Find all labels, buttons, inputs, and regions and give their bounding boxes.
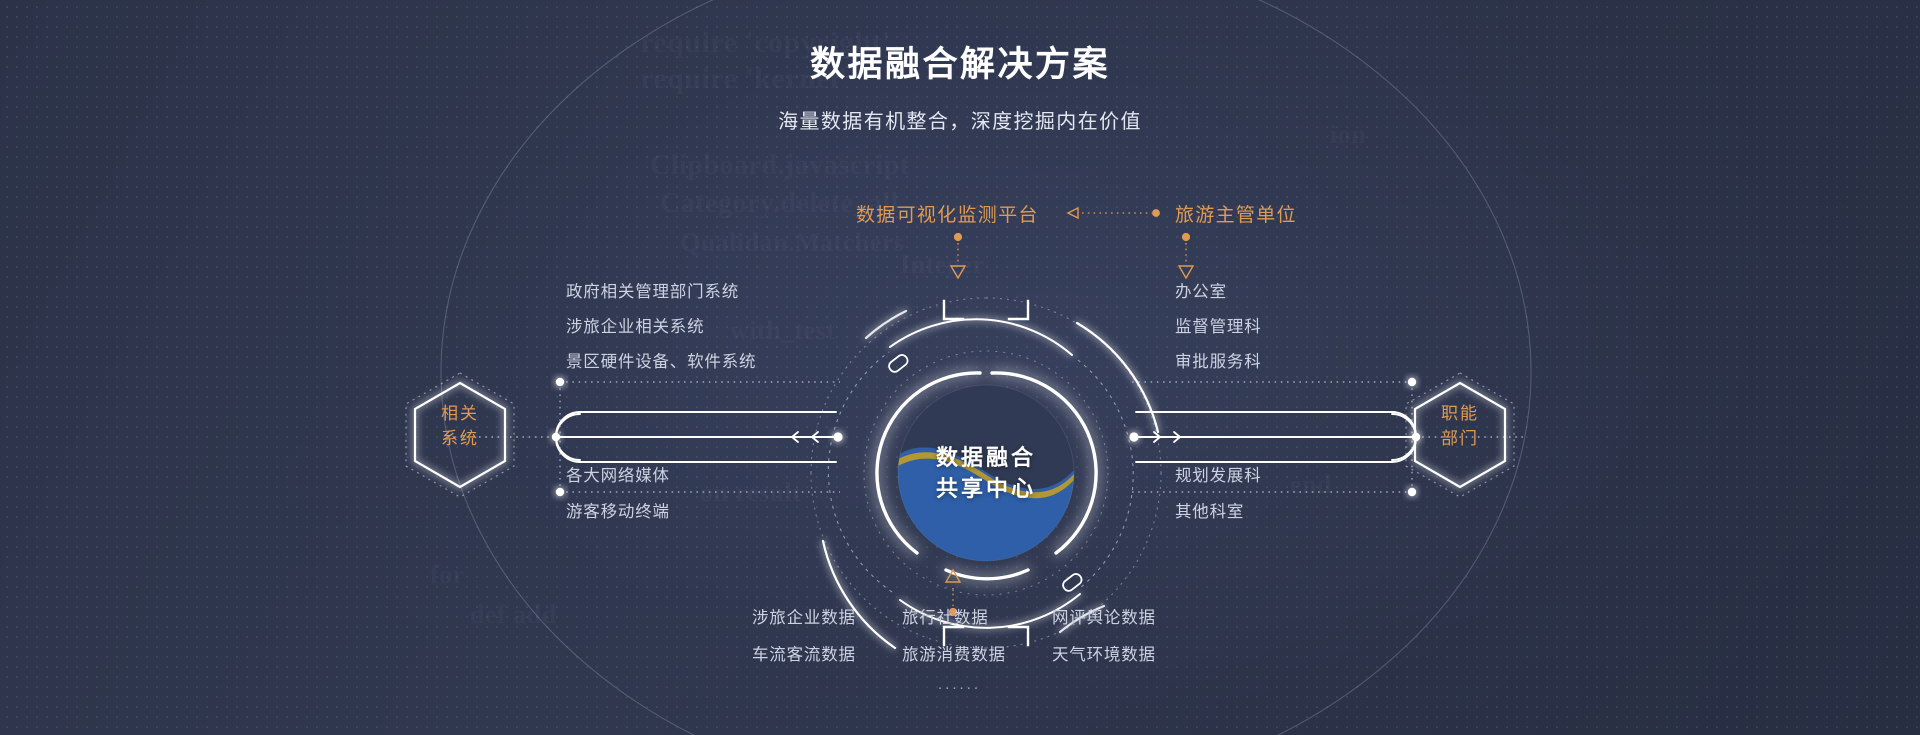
code-line: def add — [470, 600, 557, 630]
core-line-1: 数据融合 — [936, 442, 1036, 473]
code-line: with_test — [730, 316, 836, 346]
page-subtitle: 海量数据有机整合，深度挖掘内在价值 — [0, 105, 1920, 134]
right-upper-item: 审批服务科 — [1175, 348, 1262, 372]
left-flow-arrows — [792, 432, 818, 442]
left-hexagon-label: 相关 系统 — [400, 401, 520, 451]
page-title: 数据融合解决方案 — [0, 36, 1920, 87]
code-line: on result — [700, 478, 802, 508]
left-upper-item: 涉旅企业相关系统 — [566, 313, 704, 337]
code-line: Qualidan.Matchers — [680, 228, 904, 258]
left-connector-bracket — [556, 412, 836, 462]
right-hexagon-line2: 部门 — [1400, 426, 1520, 451]
left-hexagon-line1: 相关 — [400, 401, 520, 426]
right-hexagon-node[interactable]: 职能 部门 — [1400, 361, 1520, 491]
core-center-label: 数据融合 共享中心 — [898, 385, 1074, 561]
right-hexagon-label: 职能 部门 — [1400, 401, 1520, 451]
code-line: Clipboard.javascript — [650, 150, 910, 182]
left-lower-item: 游客移动终端 — [566, 498, 670, 522]
platform-vertical-link — [951, 233, 965, 278]
left-hexagon-node[interactable]: 相关 系统 — [400, 361, 520, 491]
bottom-data-item: 涉旅企业数据 — [752, 604, 856, 628]
left-lower-item: 各大网络媒体 — [566, 462, 670, 486]
bottom-ellipsis: ...... — [938, 676, 981, 693]
right-upper-item: 办公室 — [1175, 278, 1227, 302]
right-flow-arrows — [1154, 432, 1180, 442]
authority-vertical-link — [1179, 233, 1193, 278]
infographic-canvas: require 'copyright' require 'kernel' Cli… — [0, 0, 1920, 735]
top-horizontal-orange-link — [1068, 208, 1159, 218]
right-connector-bracket — [1136, 412, 1416, 462]
code-line: Integer — [900, 250, 984, 280]
bottom-data-item: 旅游消费数据 — [902, 641, 1006, 665]
right-hexagon-line1: 职能 — [1400, 401, 1520, 426]
bottom-data-item: 天气环境数据 — [1052, 641, 1156, 665]
bottom-data-item: 车流客流数据 — [752, 641, 856, 665]
right-upper-item: 监督管理科 — [1175, 313, 1262, 337]
node-label-tourism-authority[interactable]: 旅游主管单位 — [1175, 200, 1297, 227]
core-line-2: 共享中心 — [936, 473, 1036, 504]
bottom-data-item: 网评舆论数据 — [1052, 604, 1156, 628]
left-hexagon-line2: 系统 — [400, 426, 520, 451]
code-line: end — [1290, 470, 1332, 500]
left-upper-item: 政府相关管理部门系统 — [566, 278, 739, 302]
node-label-visualization-platform[interactable]: 数据可视化监测平台 — [856, 200, 1039, 227]
right-lower-item: 规划发展科 — [1175, 462, 1262, 486]
code-line: for — [430, 560, 465, 590]
left-upper-item: 景区硬件设备、软件系统 — [566, 348, 756, 372]
right-lower-item: 其他科室 — [1175, 498, 1244, 522]
bottom-data-item: 旅行社数据 — [902, 604, 989, 628]
right-connector-nodes — [1129, 378, 1420, 496]
